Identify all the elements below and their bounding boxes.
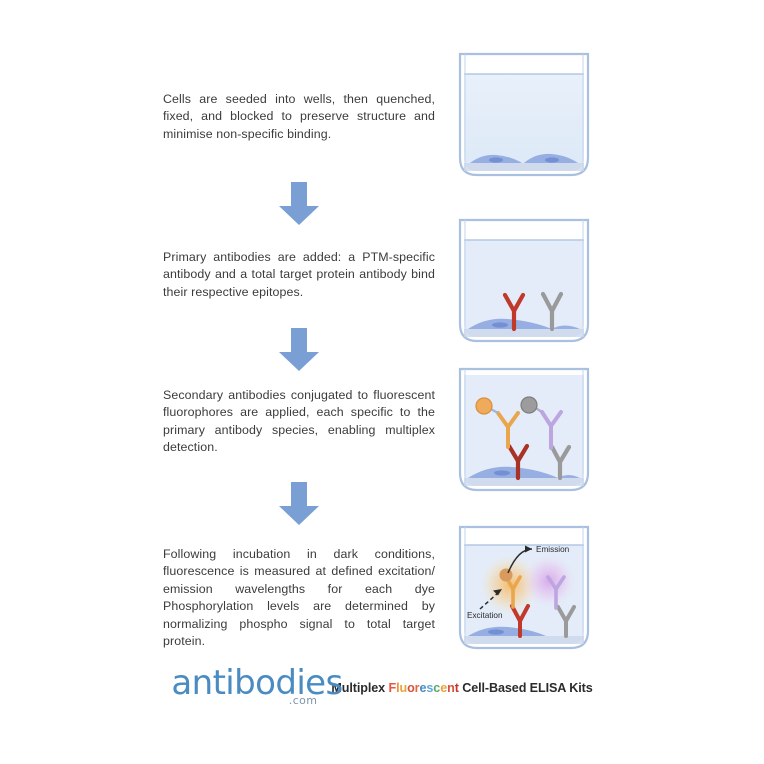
well-with-secondary-antibodies-illustration — [456, 365, 592, 494]
arrow-down-2 — [275, 328, 323, 372]
tagline-segment: F — [388, 681, 396, 695]
arrow-down-1 — [275, 182, 323, 226]
step-3-description: Secondary antibodies conjugated to fluor… — [163, 387, 435, 457]
well-4-svg: Emission Excitation — [456, 523, 592, 652]
well-with-cells-illustration — [456, 50, 592, 179]
tagline-segment: Cell-Based ELISA Kits — [459, 681, 593, 695]
logo-lockup[interactable]: antibodies .com Multiplex Fluorescent Ce… — [171, 668, 592, 714]
antibodies-logo[interactable]: antibodies .com — [171, 668, 323, 714]
step-2-description: Primary antibodies are added: a PTM-spec… — [163, 249, 435, 301]
step-4-description: Following incubation in dark conditions,… — [163, 546, 435, 650]
well-with-primary-antibodies-illustration — [456, 216, 592, 345]
workflow-diagram: Cells are seeded into wells, then quench… — [0, 0, 764, 764]
arrow-down-3 — [275, 482, 323, 526]
emission-label: Emission — [536, 545, 570, 554]
logo-dotcom: .com — [289, 695, 318, 706]
well-1-svg — [456, 50, 592, 179]
tagline-segment: o — [407, 681, 415, 695]
tagline-segment: n — [447, 681, 455, 695]
tagline-segment: u — [399, 681, 407, 695]
excitation-label: Excitation — [467, 611, 503, 620]
well-3-svg — [456, 365, 592, 494]
arrow-down-icon — [275, 182, 323, 226]
well-with-fluorescence-illustration: Emission Excitation — [456, 523, 592, 652]
fluorophore-excited — [500, 569, 513, 582]
product-tagline: Multiplex Fluorescent Cell-Based ELISA K… — [331, 681, 592, 695]
footer-branding: antibodies .com Multiplex Fluorescent Ce… — [0, 668, 764, 722]
step-1-description: Cells are seeded into wells, then quench… — [163, 91, 435, 143]
arrow-down-icon — [275, 482, 323, 526]
arrow-down-icon — [275, 328, 323, 372]
well-2-svg — [456, 216, 592, 345]
